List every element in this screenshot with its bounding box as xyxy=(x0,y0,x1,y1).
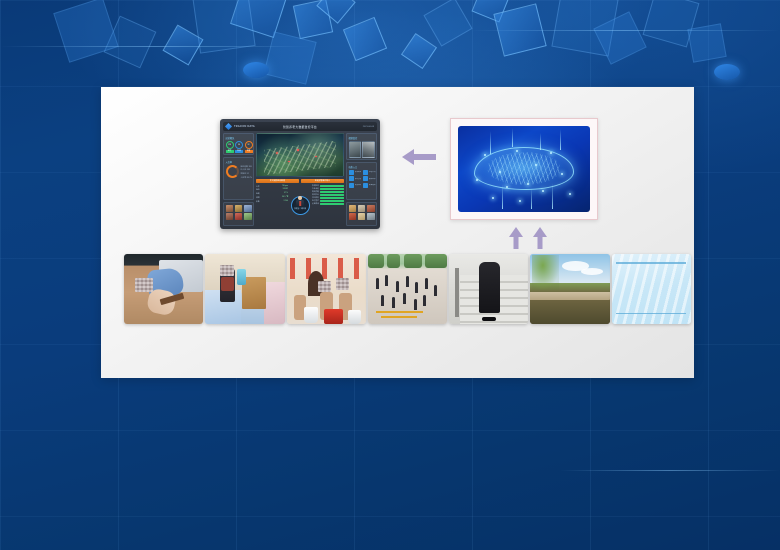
dashboard-body: 运营概况 128 在院 96 在线 32 xyxy=(223,133,377,226)
face-blur-mosaic xyxy=(336,278,349,291)
daily-image-thumb[interactable] xyxy=(358,205,366,212)
alert-event-row[interactable]: 跌倒检测 xyxy=(312,185,344,187)
decorative-square xyxy=(263,31,316,84)
health-record-icon xyxy=(349,170,354,175)
dashboard-title: 智慧养老大数据监控平台 xyxy=(283,125,317,129)
resident-avatar-figure xyxy=(296,200,304,207)
alert-event-row[interactable]: 设备离线 xyxy=(312,203,344,205)
resident-detail-row: 心率78 bpm 血压126/82 血氧97 % 体温36.5 ℃ 步数3 24… xyxy=(256,185,344,227)
resident-thumb-grid xyxy=(226,205,252,220)
decorative-square xyxy=(343,17,387,61)
resident-thumbs-card xyxy=(223,202,254,226)
resident-name: 张建国 · 3栋2楼 xyxy=(294,208,306,210)
alert-event-row[interactable]: 离床提醒 xyxy=(312,191,344,193)
quick-entry-card: 功能入口 健康档案 护理计划 用药管理 膳食营养 康复训练 家属通知 xyxy=(346,162,377,200)
face-blur-mosaic xyxy=(135,278,152,292)
photo-activity-room[interactable] xyxy=(287,254,366,324)
photo-plaza-crowd[interactable] xyxy=(368,254,447,324)
occupancy-donut-row: 床位总数 320 已入住 268 空床位 52 入住率 83.7% xyxy=(226,165,252,179)
decorative-square xyxy=(293,0,333,39)
section-header-bar[interactable]: 智能预警事件统计 xyxy=(301,179,344,183)
face-blur-mosaic xyxy=(220,265,233,276)
resident-thumb[interactable] xyxy=(235,213,243,220)
arrow-shaft xyxy=(414,154,436,160)
section-header-bars: 实时健康监测数据 智能预警事件统计 xyxy=(256,179,344,183)
ai-brain-frame xyxy=(450,118,598,220)
quick-entry-item[interactable]: 膳食营养 xyxy=(363,176,376,181)
decorative-square xyxy=(643,0,700,47)
resident-thumb[interactable] xyxy=(226,205,234,212)
occupancy-donut-chart xyxy=(226,165,239,178)
quick-entry-item[interactable]: 家属通知 xyxy=(363,183,376,188)
resident-avatar[interactable]: 张建国 · 3栋2楼 xyxy=(290,185,310,227)
resident-avatar-ring: 张建国 · 3栋2楼 xyxy=(291,196,310,215)
presentation-slide: TRAJION DATA 智慧养老大数据监控平台 2021-06-08 运营概况… xyxy=(0,0,780,550)
occupancy-stat: 已入住 268 xyxy=(241,168,253,171)
arrow-head xyxy=(533,227,547,237)
dashboard-logo-icon xyxy=(225,123,232,130)
gauge-group: 128 在院 96 在线 32 告警 xyxy=(226,141,252,153)
gauge-label: 告警 xyxy=(245,150,253,153)
daily-image-thumb[interactable] xyxy=(349,205,357,212)
decorative-square xyxy=(551,0,618,57)
vitals-list: 心率78 bpm 血压126/82 血氧97 % 体温36.5 ℃ 步数3 24… xyxy=(256,185,288,227)
ai-brain-image xyxy=(458,126,590,212)
daily-image-thumb[interactable] xyxy=(358,213,366,220)
cctv-card-label: 视频监控 xyxy=(349,136,375,140)
family-notify-icon xyxy=(363,183,368,188)
photo-abstract-texture[interactable] xyxy=(612,254,691,324)
quick-entry-grid: 健康档案 护理计划 用药管理 膳食营养 康复训练 家属通知 xyxy=(349,170,375,188)
alert-event-row[interactable]: 久卧未起 xyxy=(312,188,344,190)
decorative-line xyxy=(0,46,310,47)
resident-thumb[interactable] xyxy=(244,205,252,212)
alert-event-row[interactable]: 夜间外出 xyxy=(312,194,344,196)
decorative-square xyxy=(593,11,646,64)
vital-row: 血氧97 % xyxy=(256,192,288,195)
arrow-up-icon-left xyxy=(509,227,523,249)
decorative-square xyxy=(230,0,288,38)
occupancy-card: 入住率 床位总数 320 已入住 268 空床位 52 入住率 83.7% xyxy=(223,157,254,200)
face-blur-mosaic xyxy=(318,281,331,292)
decorative-line xyxy=(470,30,780,31)
gauge-label: 在线 xyxy=(235,150,243,153)
rehab-icon xyxy=(349,183,354,188)
gauge-ring: 128 xyxy=(226,141,234,149)
gauge-label: 在院 xyxy=(226,150,234,153)
quick-entry-label: 功能入口 xyxy=(349,165,375,169)
daily-image-thumb[interactable] xyxy=(349,213,357,220)
decorative-ellipse xyxy=(243,62,269,78)
occupancy-card-label: 入住率 xyxy=(226,160,252,164)
occupancy-stat: 空床位 52 xyxy=(241,172,253,175)
vital-row: 心率78 bpm xyxy=(256,185,288,188)
daily-image-thumb[interactable] xyxy=(367,205,375,212)
gauge-item[interactable]: 32 告警 xyxy=(245,141,253,153)
cctv-feed[interactable] xyxy=(362,141,374,158)
cctv-card: 视频监控 xyxy=(346,133,377,160)
photo-stairs-walking[interactable] xyxy=(449,254,528,324)
map-pin[interactable] xyxy=(315,156,317,158)
decorative-ellipse xyxy=(714,64,740,80)
quick-entry-item[interactable]: 康复训练 xyxy=(349,183,362,188)
map-pin[interactable] xyxy=(288,161,290,163)
resident-thumb[interactable] xyxy=(244,213,252,220)
care-plan-icon xyxy=(363,170,368,175)
decorative-square xyxy=(401,33,437,69)
decorative-square xyxy=(423,0,472,47)
arrow-up-icon-right xyxy=(533,227,547,249)
gauges-card: 运营概况 128 在院 96 在线 32 xyxy=(223,133,254,155)
daily-image-grid xyxy=(349,205,375,220)
alert-event-row[interactable]: 电子围栏 xyxy=(312,200,344,202)
arrow-head xyxy=(509,227,523,237)
dashboard-right-column: 视频监控 功能入口 健康档案 护理计划 用药管理 膳食营养 xyxy=(346,133,377,226)
slide-content-panel: TRAJION DATA 智慧养老大数据监控平台 2021-06-08 运营概况… xyxy=(101,87,694,378)
vital-row: 步数3 240 xyxy=(256,200,288,203)
vital-row: 血压126/82 xyxy=(256,188,288,191)
decorative-square xyxy=(163,25,204,66)
gauge-item[interactable]: 128 在院 xyxy=(226,141,234,153)
dashboard-center-column: 实时健康监测数据 智能预警事件统计 心率78 bpm 血压126/82 血氧97… xyxy=(256,133,344,226)
occupancy-stat: 床位总数 320 xyxy=(241,165,253,168)
cctv-feed-group xyxy=(349,141,375,158)
gauge-ring: 32 xyxy=(245,141,253,149)
photo-fall-detection[interactable] xyxy=(124,254,203,324)
section-header-bar[interactable]: 实时健康监测数据 xyxy=(256,179,299,183)
dashboard-date: 2021-06-08 xyxy=(363,126,374,128)
photo-park-lakeside[interactable] xyxy=(530,254,609,324)
quick-entry-item[interactable]: 用药管理 xyxy=(349,176,362,181)
resident-thumb[interactable] xyxy=(226,213,234,220)
nutrition-icon xyxy=(363,176,368,181)
decorative-square xyxy=(471,0,510,23)
occupancy-stats: 床位总数 320 已入住 268 空床位 52 入住率 83.7% xyxy=(241,165,253,179)
daily-image-thumb[interactable] xyxy=(367,213,375,220)
gauge-ring: 96 xyxy=(235,141,243,149)
quick-entry-item[interactable]: 健康档案 xyxy=(349,170,362,175)
decorative-line xyxy=(560,470,780,471)
sample-photo-strip xyxy=(124,254,691,324)
quick-entry-item[interactable]: 护理计划 xyxy=(363,170,376,175)
decorative-square xyxy=(316,0,355,24)
decorative-square xyxy=(104,16,157,69)
dashboard-header: TRAJION DATA 智慧养老大数据监控平台 2021-06-08 xyxy=(223,122,377,131)
arrow-head xyxy=(402,149,414,165)
photo-bedroom-care[interactable] xyxy=(205,254,284,324)
dashboard-left-column: 运营概况 128 在院 96 在线 32 xyxy=(223,133,254,226)
campus-3d-map[interactable] xyxy=(256,133,344,177)
dashboard-logo-text: TRAJION DATA xyxy=(234,125,255,128)
gauges-card-label: 运营概况 xyxy=(226,136,252,140)
medication-icon xyxy=(349,176,354,181)
occupancy-stat: 入住率 83.7% xyxy=(241,176,253,179)
cctv-feed[interactable] xyxy=(349,141,361,158)
smart-care-dashboard[interactable]: TRAJION DATA 智慧养老大数据监控平台 2021-06-08 运营概况… xyxy=(220,119,380,229)
resident-thumb[interactable] xyxy=(235,205,243,212)
vital-row: 体温36.5 ℃ xyxy=(256,196,288,199)
map-pin[interactable] xyxy=(297,149,299,151)
map-pin[interactable] xyxy=(276,152,278,154)
gauge-item[interactable]: 96 在线 xyxy=(235,141,243,153)
alert-event-list: 跌倒检测 久卧未起 离床提醒 夜间外出 呼叫求助 电子围栏 设备离线 xyxy=(312,185,344,227)
alert-event-row[interactable]: 呼叫求助 xyxy=(312,197,344,199)
arrow-left-icon xyxy=(402,149,436,165)
daily-images-card xyxy=(346,202,377,226)
decorative-square xyxy=(53,0,119,63)
